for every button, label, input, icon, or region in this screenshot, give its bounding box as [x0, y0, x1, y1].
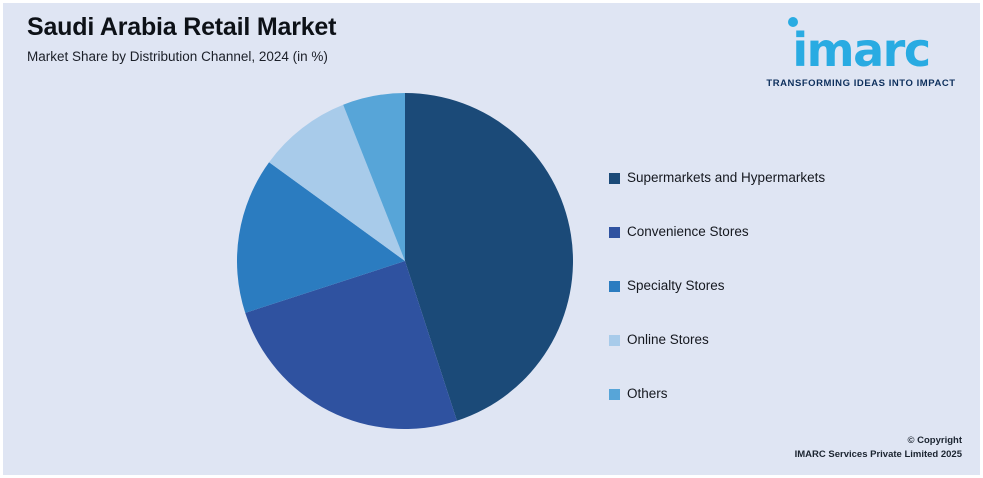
- infographic-card: Saudi Arabia Retail Market Market Share …: [0, 0, 983, 478]
- legend-label: Convenience Stores: [627, 225, 749, 239]
- legend-item[interactable]: Others: [609, 367, 949, 421]
- imarc-logo: imarc TRANSFORMING IDEAS INTO IMPACT: [756, 13, 966, 89]
- legend-label: Others: [627, 387, 668, 401]
- logo-dot-icon: [788, 17, 798, 27]
- chart-legend: Supermarkets and HypermarketsConvenience…: [609, 151, 949, 421]
- copyright-line: © Copyright: [795, 434, 962, 449]
- footer: © Copyright IMARC Services Private Limit…: [795, 434, 962, 463]
- legend-swatch-icon: [609, 389, 620, 400]
- legend-label: Specialty Stores: [627, 279, 725, 293]
- legend-item[interactable]: Specialty Stores: [609, 259, 949, 313]
- legend-swatch-icon: [609, 281, 620, 292]
- legend-swatch-icon: [609, 335, 620, 346]
- pie-chart: [237, 93, 573, 429]
- legend-label: Supermarkets and Hypermarkets: [627, 171, 825, 185]
- company-line: IMARC Services Private Limited 2025: [795, 448, 962, 463]
- chart-subtitle: Market Share by Distribution Channel, 20…: [27, 49, 647, 65]
- legend-item[interactable]: Convenience Stores: [609, 205, 949, 259]
- legend-item[interactable]: Online Stores: [609, 313, 949, 367]
- legend-label: Online Stores: [627, 333, 709, 347]
- pie-chart-svg: [237, 93, 573, 429]
- logo-tagline: TRANSFORMING IDEAS INTO IMPACT: [756, 78, 966, 89]
- header: Saudi Arabia Retail Market Market Share …: [27, 13, 647, 65]
- logo-wordmark: imarc: [756, 27, 966, 73]
- pie-slice-group: [237, 93, 573, 429]
- legend-swatch-icon: [609, 227, 620, 238]
- legend-item[interactable]: Supermarkets and Hypermarkets: [609, 151, 949, 205]
- page-title: Saudi Arabia Retail Market: [27, 13, 647, 43]
- legend-swatch-icon: [609, 173, 620, 184]
